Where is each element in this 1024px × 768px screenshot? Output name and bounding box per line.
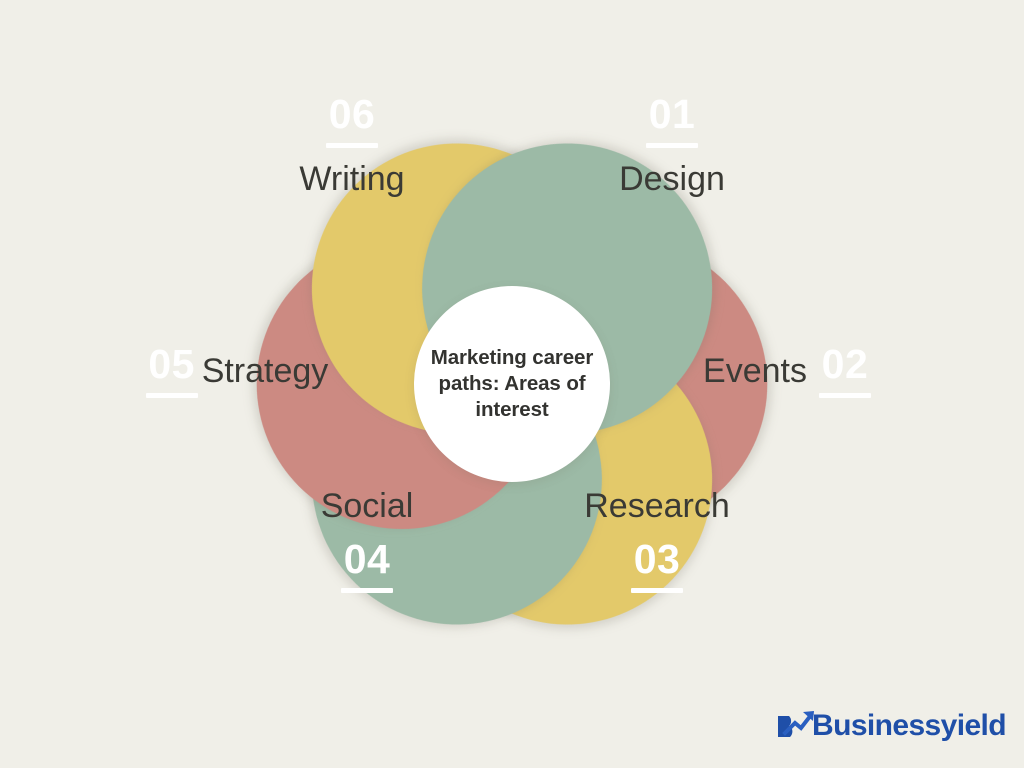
petal-events-number-underline xyxy=(819,393,871,398)
petal-strategy-number-underline xyxy=(146,393,198,398)
petal-design-number-underline xyxy=(646,143,698,148)
brand-logo: Businessyield xyxy=(775,706,1006,746)
center-circle: Marketing career paths: Areas of interes… xyxy=(414,286,610,482)
petal-writing-number-underline xyxy=(326,143,378,148)
petal-events-number-block: 02 xyxy=(819,344,871,398)
petal-events-number: 02 xyxy=(822,344,869,384)
center-title: Marketing career paths: Areas of interes… xyxy=(414,345,610,422)
petal-writing-number: 06 xyxy=(329,94,376,134)
petal-design-number: 01 xyxy=(649,94,696,134)
petal-design-number-block: 01 xyxy=(646,94,698,148)
b-arrow-icon xyxy=(775,707,817,745)
petal-strategy-number-block: 05 xyxy=(146,344,198,398)
petal-writing-number-block: 06 xyxy=(326,94,378,148)
petal-strategy-number: 05 xyxy=(148,344,195,384)
brand-logo-text: Businessyield xyxy=(812,711,1006,741)
